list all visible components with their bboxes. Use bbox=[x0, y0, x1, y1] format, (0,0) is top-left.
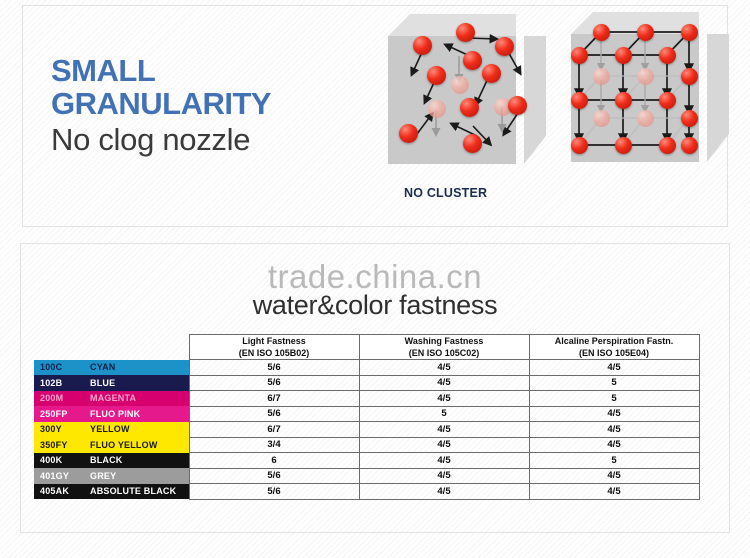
color-name-cell: YELLOW bbox=[86, 422, 189, 438]
lattice-node bbox=[615, 47, 632, 64]
color-code-cell: 405AK bbox=[34, 484, 86, 500]
color-code-cell: 100C bbox=[34, 360, 86, 376]
table-row: 102BBLUE5/64/55 bbox=[34, 375, 699, 391]
color-code-cell: 300Y bbox=[34, 422, 86, 438]
header-alcaline-fastness-label: Alcaline Perspiration Fastn. bbox=[530, 335, 699, 347]
light-fastness-value-cell: 5/6 bbox=[189, 375, 359, 391]
lattice-node bbox=[571, 47, 588, 64]
particle bbox=[463, 134, 482, 153]
header-washing-fastness-label: Washing Fastness bbox=[360, 335, 529, 347]
lattice-node-faded bbox=[593, 110, 610, 127]
color-name-cell: BLUE bbox=[86, 375, 189, 391]
light-fastness-value-cell: 3/4 bbox=[189, 437, 359, 453]
table-row: 350FYFLUO YELLOW3/44/54/5 bbox=[34, 437, 699, 453]
light-fastness-value-cell: 6/7 bbox=[189, 391, 359, 407]
wash-fastness-value-cell: 4/5 bbox=[359, 453, 529, 469]
lattice-node bbox=[615, 137, 632, 154]
table-row: 200MMAGENTA6/74/55 bbox=[34, 391, 699, 407]
lattice-node bbox=[615, 92, 632, 109]
header-washing-fastness: Washing Fastness (EN ISO 105C02) bbox=[359, 335, 529, 360]
color-name-cell: FLUO YELLOW bbox=[86, 437, 189, 453]
lattice-node bbox=[637, 24, 654, 41]
wash-fastness-value-cell: 4/5 bbox=[359, 375, 529, 391]
alk-fastness-value-cell: 4/5 bbox=[529, 360, 699, 376]
particle bbox=[460, 98, 479, 117]
lattice-node bbox=[571, 137, 588, 154]
particle bbox=[482, 64, 501, 83]
alk-fastness-value-cell: 4/5 bbox=[529, 406, 699, 422]
lattice-node-faded bbox=[593, 68, 610, 85]
fastness-panel: trade.china.cn water&color fastness Ligh… bbox=[20, 243, 730, 533]
lattice-node bbox=[681, 110, 698, 127]
table-row: 401GYGREY5/64/54/5 bbox=[34, 468, 699, 484]
lattice-node bbox=[659, 47, 676, 64]
lattice-node bbox=[681, 24, 698, 41]
particle bbox=[399, 124, 418, 143]
lattice-node bbox=[571, 92, 588, 109]
lattice-node bbox=[659, 137, 676, 154]
particle bbox=[495, 37, 514, 56]
color-code-cell: 250FP bbox=[34, 406, 86, 422]
header-code-spacer bbox=[34, 335, 86, 360]
header-name-spacer bbox=[86, 335, 189, 360]
table-body: 100CCYAN5/64/54/5102BBLUE5/64/55200MMAGE… bbox=[34, 360, 699, 500]
lattice-node bbox=[681, 68, 698, 85]
particle bbox=[427, 66, 446, 85]
fastness-table: Light Fastness (EN ISO 105B02) Washing F… bbox=[34, 334, 700, 500]
light-fastness-value-cell: 5/6 bbox=[189, 406, 359, 422]
header-washing-fastness-standard: (EN ISO 105C02) bbox=[360, 347, 529, 359]
feature-panel-top: SMALL GRANULARITY No clog nozzle bbox=[22, 5, 728, 227]
lattice-node-faded bbox=[637, 110, 654, 127]
color-name-cell: BLACK bbox=[86, 453, 189, 469]
color-name-cell: MAGENTA bbox=[86, 391, 189, 407]
wash-fastness-value-cell: 4/5 bbox=[359, 391, 529, 407]
table-header: Light Fastness (EN ISO 105B02) Washing F… bbox=[34, 335, 699, 360]
light-fastness-value-cell: 6/7 bbox=[189, 422, 359, 438]
color-code-cell: 102B bbox=[34, 375, 86, 391]
light-fastness-value-cell: 5/6 bbox=[189, 468, 359, 484]
table-header-row: Light Fastness (EN ISO 105B02) Washing F… bbox=[34, 335, 699, 360]
alk-fastness-value-cell: 5 bbox=[529, 391, 699, 407]
header-alcaline-fastness-standard: (EN ISO 105E04) bbox=[530, 347, 699, 359]
lattice-node bbox=[593, 24, 610, 41]
light-fastness-value-cell: 5/6 bbox=[189, 484, 359, 500]
header-light-fastness-standard: (EN ISO 105B02) bbox=[190, 347, 359, 359]
table-row: 405AKABSOLUTE BLACK5/64/54/5 bbox=[34, 484, 699, 500]
table-row: 300YYELLOW6/74/54/5 bbox=[34, 422, 699, 438]
header-light-fastness-label: Light Fastness bbox=[190, 335, 359, 347]
no-cluster-cube-illustration: NO CLUSTER bbox=[380, 14, 555, 184]
illustration-area: NO CLUSTER bbox=[375, 6, 729, 226]
no-cluster-label: NO CLUSTER bbox=[404, 186, 487, 200]
light-fastness-value-cell: 6 bbox=[189, 453, 359, 469]
alk-fastness-value-cell: 4/5 bbox=[529, 437, 699, 453]
color-code-cell: 200M bbox=[34, 391, 86, 407]
table-row: 250FPFLUO PINK5/654/5 bbox=[34, 406, 699, 422]
color-code-cell: 401GY bbox=[34, 468, 86, 484]
color-code-cell: 400K bbox=[34, 453, 86, 469]
table-row: 400KBLACK64/55 bbox=[34, 453, 699, 469]
header-alcaline-fastness: Alcaline Perspiration Fastn. (EN ISO 105… bbox=[529, 335, 699, 360]
color-name-cell: FLUO PINK bbox=[86, 406, 189, 422]
header-light-fastness: Light Fastness (EN ISO 105B02) bbox=[189, 335, 359, 360]
alk-fastness-value-cell: 4/5 bbox=[529, 468, 699, 484]
cluster-lattice-illustration: J-TECK3 CLUSTER TECHNOLOGY J-TECK3 bbox=[563, 12, 729, 190]
alk-fastness-value-cell: 5 bbox=[529, 453, 699, 469]
alk-fastness-value-cell: 4/5 bbox=[529, 422, 699, 438]
wash-fastness-value-cell: 4/5 bbox=[359, 468, 529, 484]
color-name-cell: GREY bbox=[86, 468, 189, 484]
wash-fastness-value-cell: 4/5 bbox=[359, 422, 529, 438]
color-name-cell: CYAN bbox=[86, 360, 189, 376]
color-code-cell: 350FY bbox=[34, 437, 86, 453]
particle-faded bbox=[451, 76, 469, 94]
alk-fastness-value-cell: 4/5 bbox=[529, 484, 699, 500]
particle bbox=[413, 36, 432, 55]
particle bbox=[456, 23, 475, 42]
lattice-node-faded bbox=[637, 68, 654, 85]
particle-faded bbox=[428, 100, 446, 118]
lattice-node bbox=[659, 92, 676, 109]
wash-fastness-value-cell: 5 bbox=[359, 406, 529, 422]
particle bbox=[463, 51, 482, 70]
headline-block: SMALL GRANULARITY No clog nozzle bbox=[51, 54, 371, 160]
alk-fastness-value-cell: 5 bbox=[529, 375, 699, 391]
lattice-node bbox=[681, 137, 698, 154]
headline-line-2: GRANULARITY bbox=[51, 87, 371, 120]
wash-fastness-value-cell: 4/5 bbox=[359, 484, 529, 500]
headline-line-1: SMALL bbox=[51, 54, 371, 87]
wash-fastness-value-cell: 4/5 bbox=[359, 437, 529, 453]
light-fastness-value-cell: 5/6 bbox=[189, 360, 359, 376]
table-row: 100CCYAN5/64/54/5 bbox=[34, 360, 699, 376]
color-name-cell: ABSOLUTE BLACK bbox=[86, 484, 189, 500]
wash-fastness-value-cell: 4/5 bbox=[359, 360, 529, 376]
section-title: water&color fastness bbox=[21, 290, 729, 321]
particle bbox=[508, 96, 527, 115]
headline-line-3: No clog nozzle bbox=[51, 120, 371, 160]
